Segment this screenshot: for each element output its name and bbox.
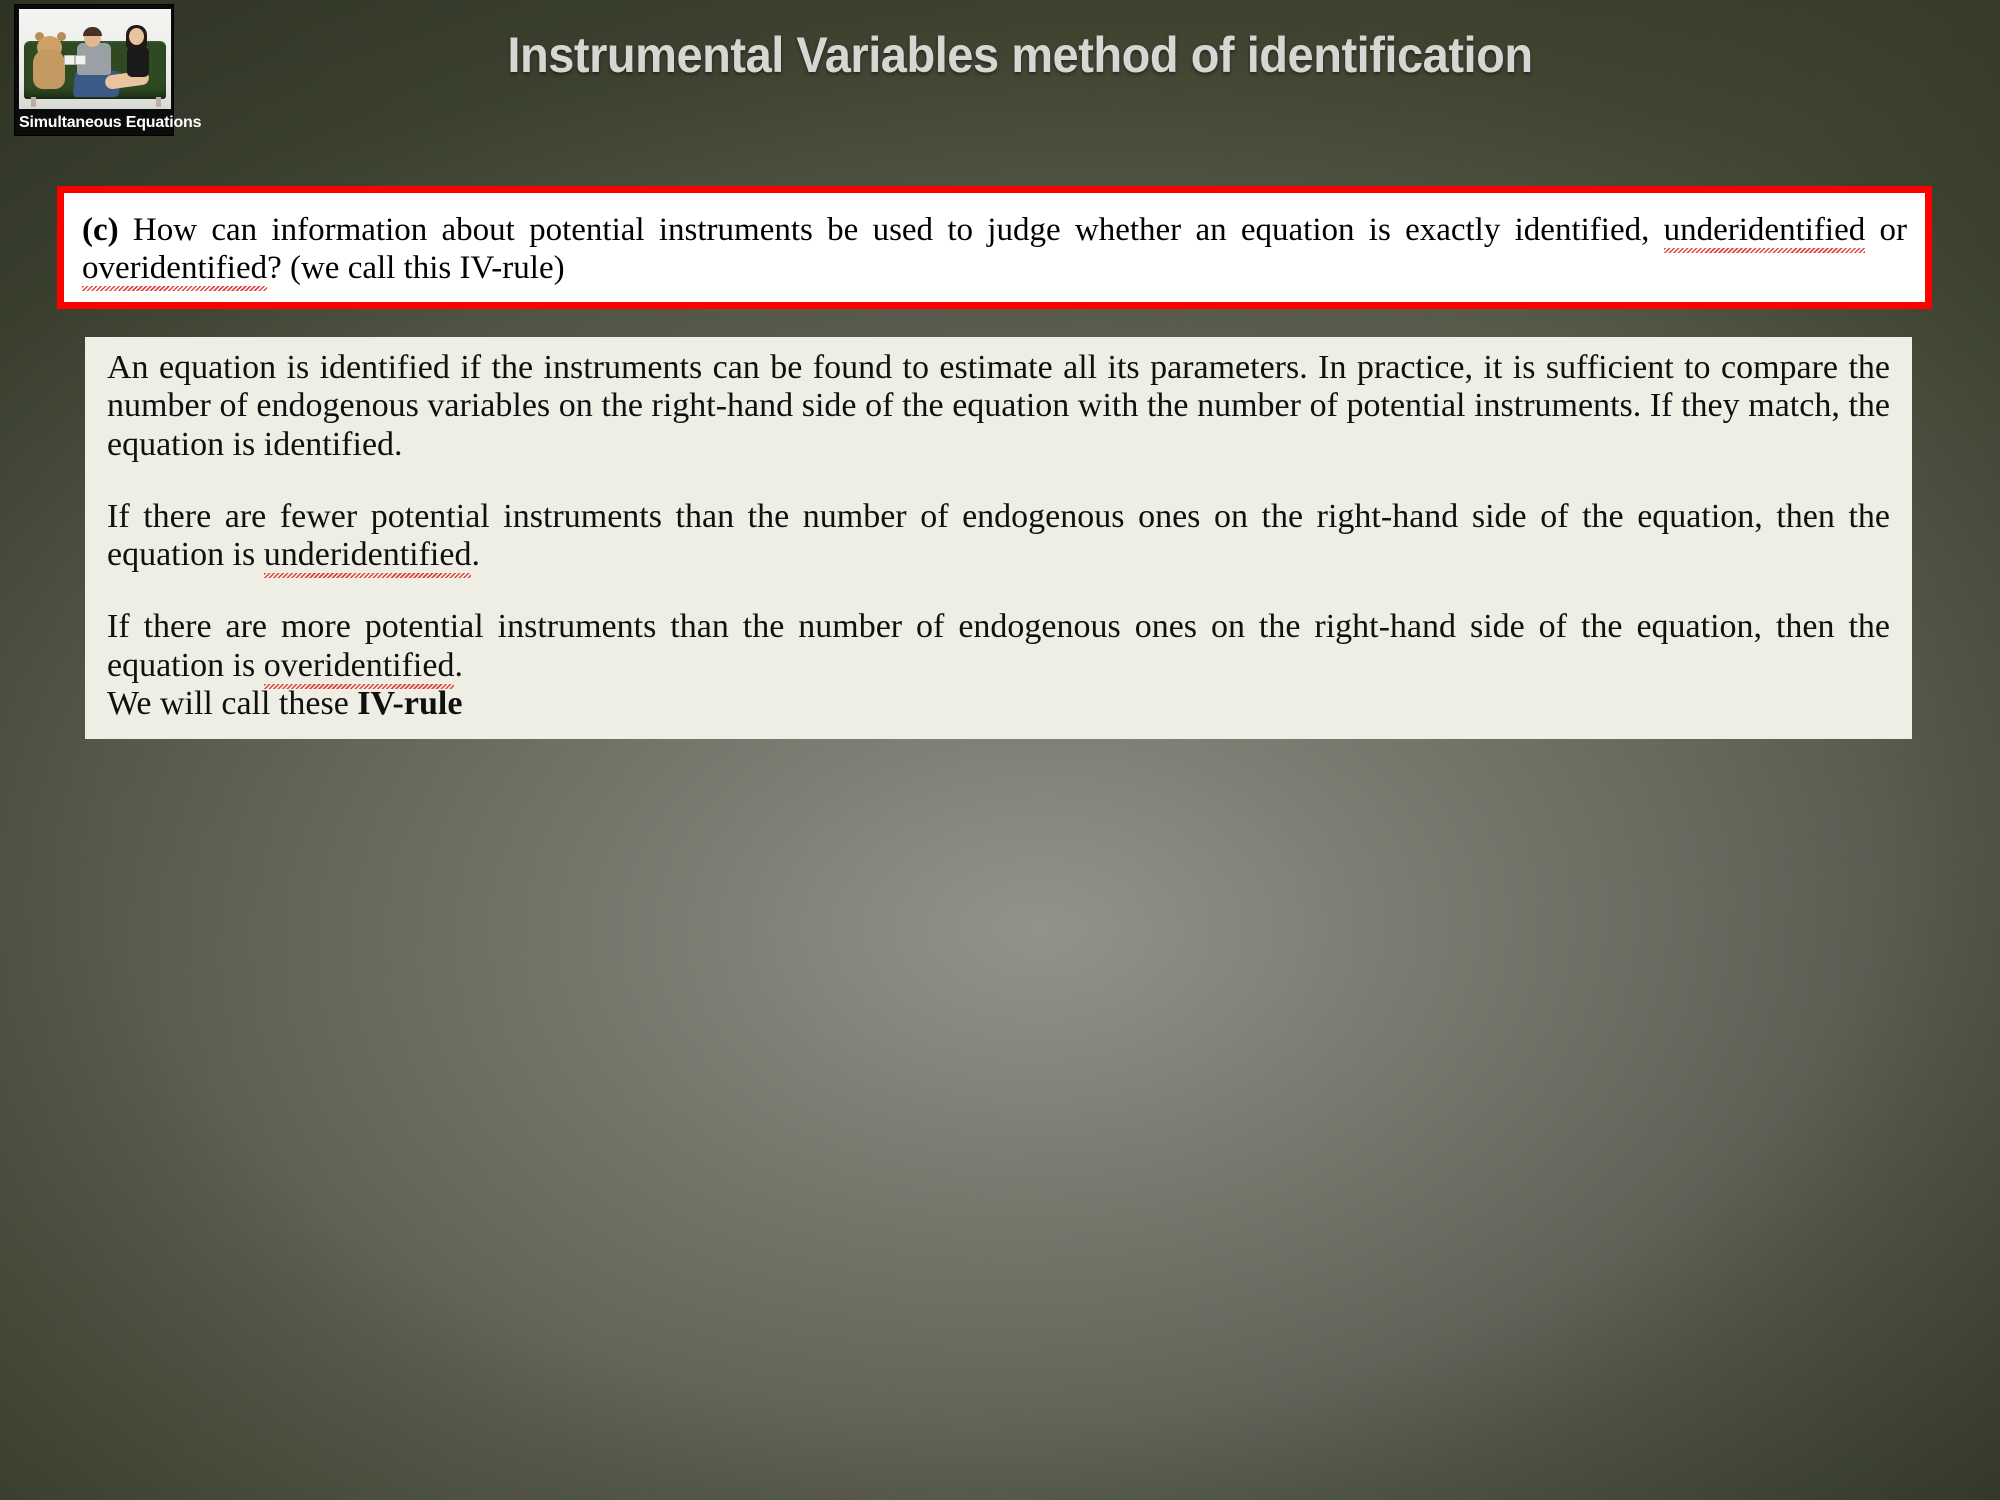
mug-icon-right — [75, 55, 86, 65]
paragraph-spacer-1 — [107, 464, 1890, 498]
teddy-bear-body — [33, 49, 65, 89]
couch-leg-right — [156, 97, 161, 107]
question-label: (c) — [82, 212, 119, 248]
answer-paragraph-2: If there are fewer potential instruments… — [107, 498, 1890, 575]
question-text-part-3: ? (we call this IV-rule) — [267, 250, 565, 286]
slide-canvas: Simultaneous Equations Instrumental Vari… — [0, 0, 2000, 1500]
answer-paragraph-4: We will call these IV-rule — [107, 685, 1890, 723]
answer-paragraph-3: If there are more potential instruments … — [107, 608, 1890, 685]
answer-paragraph-3-part-2: . — [454, 647, 463, 684]
paragraph-spacer-2 — [107, 574, 1890, 608]
mug-icon-left — [64, 55, 75, 65]
question-box: (c) How can information about potential … — [57, 186, 1932, 309]
answer-paragraph-2-part-2: . — [471, 536, 480, 573]
page-title: Instrumental Variables method of identif… — [249, 26, 1791, 84]
iv-rule-term: IV-rule — [357, 685, 462, 722]
answer-paragraph-4-part-1: We will call these — [107, 685, 357, 722]
question-text-part-1: How can information about potential inst… — [119, 212, 1664, 248]
misspelled-word-overidentified-body: overidentified — [264, 647, 455, 684]
couch-leg-left — [31, 97, 36, 107]
misspelled-word-underidentified-body: underidentified — [264, 536, 472, 573]
woman-head — [129, 28, 144, 45]
course-thumbnail: Simultaneous Equations — [14, 4, 174, 136]
question-text-part-2: or — [1865, 212, 1907, 248]
answer-paragraph-1: An equation is identified if the instrum… — [107, 349, 1890, 464]
misspelled-word-overidentified: overidentified — [82, 250, 267, 286]
thumbnail-photo — [19, 9, 171, 109]
answer-box: An equation is identified if the instrum… — [85, 337, 1912, 739]
thumbnail-caption: Simultaneous Equations — [19, 109, 169, 137]
man-hair — [83, 27, 102, 36]
misspelled-word-underidentified: underidentified — [1664, 212, 1866, 248]
woman-torso — [127, 47, 149, 77]
question-text: (c) How can information about potential … — [82, 211, 1907, 288]
